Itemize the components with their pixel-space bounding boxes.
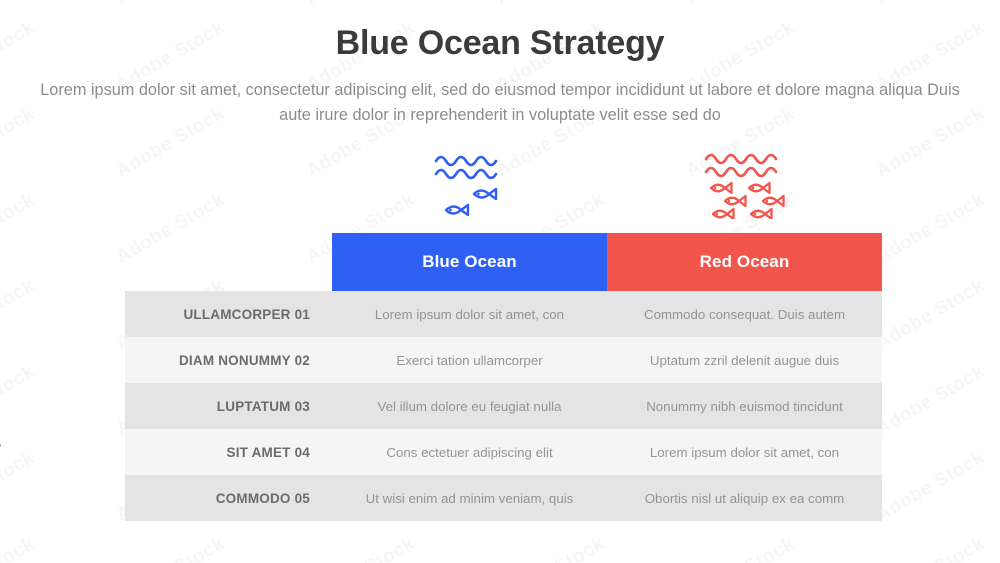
watermark-text: Adobe Stock (0, 361, 39, 441)
page-subtitle: Lorem ipsum dolor sit amet, consectetur … (40, 78, 960, 128)
cell-blue-ocean: Vel illum dolore eu feugiat nulla (332, 383, 607, 429)
cell-blue-ocean: Lorem ipsum dolor sit amet, con (332, 291, 607, 337)
table-row: COMMODO 05Ut wisi enim ad minim veniam, … (125, 475, 882, 521)
watermark-text: Adobe Stock (873, 189, 989, 269)
red-ocean-icon-cell (607, 148, 882, 226)
cell-red-ocean: Obortis nisl ut aliquip ex ea comm (607, 475, 882, 521)
stock-credit-label: Adobe Stock | #1320141899 (0, 341, 2, 549)
watermark-text: Adobe Stock (0, 275, 39, 355)
row-label: ULLAMCORPER 01 (125, 291, 332, 337)
watermark-text: Adobe Stock (113, 0, 229, 11)
watermark-text: Adobe Stock (0, 189, 39, 269)
cell-red-ocean: Lorem ipsum dolor sit amet, con (607, 429, 882, 475)
watermark-text: Adobe Stock (113, 533, 229, 563)
row-label: SIT AMET 04 (125, 429, 332, 475)
column-header-red-ocean[interactable]: Red Ocean (607, 233, 882, 291)
cell-blue-ocean: Ut wisi enim ad minim veniam, quis (332, 475, 607, 521)
table-header-spacer (125, 233, 332, 291)
cell-red-ocean: Uptatum zzril delenit augue duis (607, 337, 882, 383)
watermark-text: Adobe Stock (873, 533, 989, 563)
row-label: COMMODO 05 (125, 475, 332, 521)
red-ocean-fish-icon (703, 151, 787, 224)
watermark-text: Adobe Stock (493, 0, 609, 11)
blue-ocean-fish-icon (433, 152, 507, 223)
table-row: LUPTATUM 03Vel illum dolore eu feugiat n… (125, 383, 882, 429)
watermark-text: Adobe Stock (873, 275, 989, 355)
watermark-text: Adobe Stock (493, 533, 609, 563)
cell-blue-ocean: Exerci tation ullamcorper (332, 337, 607, 383)
table-header-row: Blue Ocean Red Ocean (125, 233, 882, 291)
watermark-text: Adobe Stock (0, 447, 39, 527)
row-label: DIAM NONUMMY 02 (125, 337, 332, 383)
watermark-text: Adobe Stock (0, 0, 39, 11)
watermark-text: Adobe Stock (303, 0, 419, 11)
watermark-text: Adobe Stock (873, 361, 989, 441)
watermark-text: Adobe Stock (873, 447, 989, 527)
ocean-icons-row (332, 148, 882, 226)
watermark-text: Adobe Stock (683, 0, 799, 11)
watermark-text: Adobe Stock (0, 103, 39, 183)
cell-blue-ocean: Cons ectetuer adipiscing elit (332, 429, 607, 475)
table-row: DIAM NONUMMY 02Exerci tation ullamcorper… (125, 337, 882, 383)
watermark-text: Adobe Stock (303, 533, 419, 563)
watermark-text: Adobe Stock (0, 533, 39, 563)
watermark-text: Adobe Stock (683, 533, 799, 563)
cell-red-ocean: Nonummy nibh euismod tincidunt (607, 383, 882, 429)
cell-red-ocean: Commodo consequat. Duis autem (607, 291, 882, 337)
row-label: LUPTATUM 03 (125, 383, 332, 429)
column-header-blue-ocean[interactable]: Blue Ocean (332, 233, 607, 291)
table-row: ULLAMCORPER 01Lorem ipsum dolor sit amet… (125, 291, 882, 337)
blue-ocean-icon-cell (332, 148, 607, 226)
watermark-text: Adobe Stock (873, 0, 989, 11)
comparison-table: Blue Ocean Red Ocean ULLAMCORPER 01Lorem… (125, 233, 882, 521)
table-row: SIT AMET 04Cons ectetuer adipiscing elit… (125, 429, 882, 475)
table-body: ULLAMCORPER 01Lorem ipsum dolor sit amet… (125, 291, 882, 521)
page-title: Blue Ocean Strategy (0, 24, 1000, 63)
